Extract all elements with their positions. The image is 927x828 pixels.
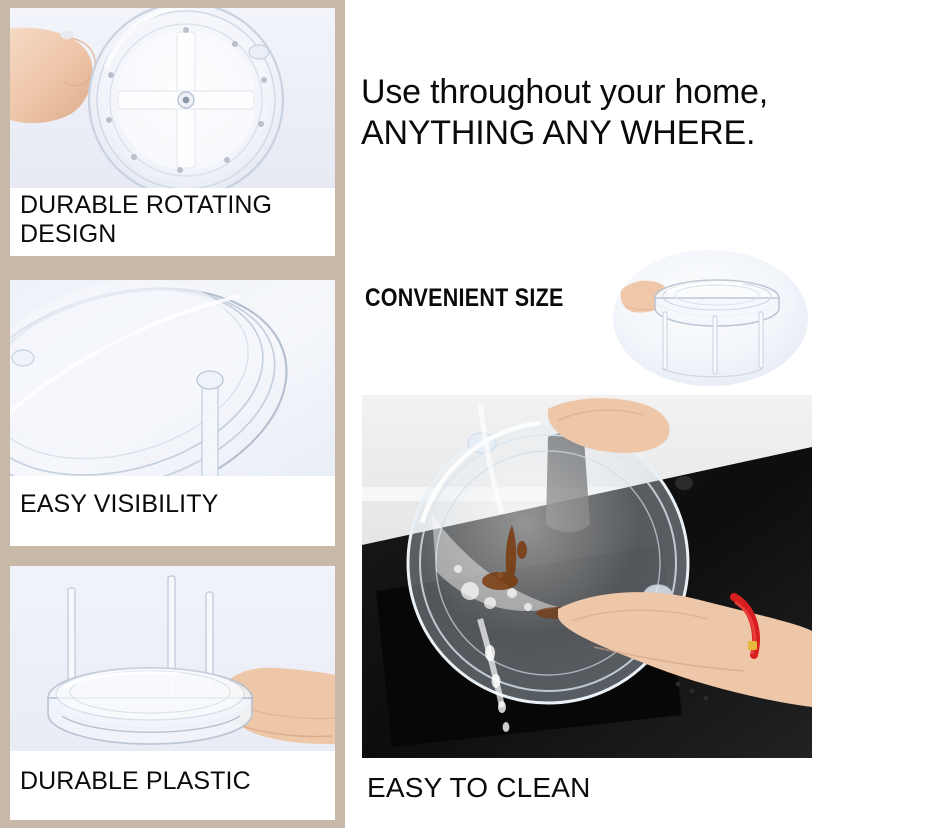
feature-tile-durable-plastic[interactable]: DURABLE PLASTIC bbox=[10, 566, 335, 820]
turntable-side-view-illustration bbox=[613, 250, 808, 386]
feature-tile-easy-visibility[interactable]: EASY VISIBILITY bbox=[10, 280, 335, 546]
feature-tile-durable-rotating-design[interactable]: DURABLE ROTATING DESIGN bbox=[10, 8, 335, 256]
photo-durable-rotating-design bbox=[10, 8, 335, 188]
product-infographic: DURABLE ROTATING DESIGN bbox=[0, 0, 927, 828]
tray-body bbox=[48, 668, 252, 744]
rotating-turntable-illustration bbox=[10, 8, 335, 188]
convenient-size-label: CONVENIENT SIZE bbox=[365, 284, 564, 312]
turntable-disc bbox=[89, 8, 283, 188]
left-feature-column: DURABLE ROTATING DESIGN bbox=[0, 0, 345, 828]
convenient-size-inset-photo bbox=[613, 250, 808, 386]
main-feature-photo bbox=[362, 395, 812, 758]
feature-caption-easy-visibility: EASY VISIBILITY bbox=[10, 476, 335, 525]
photo-easy-visibility bbox=[10, 280, 335, 476]
photo-durable-plastic bbox=[10, 566, 335, 751]
turntable-tray-with-dividers-illustration bbox=[10, 566, 335, 751]
right-content-column: Use throughout your home, ANYTHING ANY W… bbox=[345, 0, 927, 828]
feature-caption-durable-rotating-design: DURABLE ROTATING DESIGN bbox=[10, 188, 335, 256]
feature-caption-durable-plastic: DURABLE PLASTIC bbox=[10, 751, 335, 802]
main-feature-caption: EASY TO CLEAN bbox=[367, 772, 591, 804]
rinsing-tray-in-sink-illustration bbox=[362, 395, 812, 758]
page-headline: Use throughout your home, ANYTHING ANY W… bbox=[361, 72, 921, 154]
clear-rim-closeup-illustration bbox=[10, 280, 335, 476]
